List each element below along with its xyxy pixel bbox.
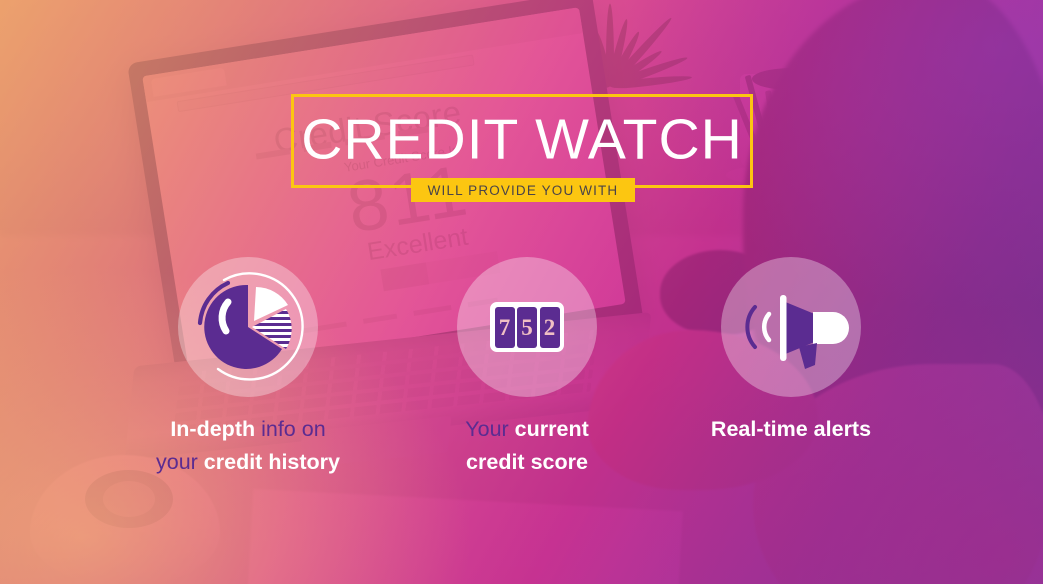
score-digit-1: 7 (495, 307, 515, 348)
feature-in-depth-info: In-depth info on your credit history (98, 257, 398, 478)
credit-score-digits-icon: 7 5 2 (457, 257, 597, 397)
feature-1-line1-light: info on (255, 417, 326, 441)
megaphone-icon (721, 257, 861, 397)
score-frame: 7 5 2 (490, 302, 564, 352)
features-row: In-depth info on your credit history 7 5… (0, 0, 1043, 584)
score-digit-3: 2 (540, 307, 560, 348)
feature-3-line1-bold: Real-time alerts (711, 417, 871, 441)
feature-1-line1-bold: In-depth (170, 417, 255, 441)
feature-1-icon-circle (178, 257, 318, 397)
feature-3-icon-circle (721, 257, 861, 397)
feature-1-caption: In-depth info on your credit history (98, 413, 398, 478)
feature-current-score: 7 5 2 Your current credit score (377, 257, 677, 478)
score-digit-2: 5 (517, 307, 537, 348)
feature-1-line2-bold: credit history (204, 450, 340, 474)
slide-canvas: Credit Score Your Credit Score Is 811 Ex… (0, 0, 1043, 584)
feature-2-line2-bold: credit score (466, 450, 588, 474)
pie-chart-icon (178, 257, 318, 397)
feature-2-line1-bold: current (515, 417, 589, 441)
feature-1-line2-light: your (156, 450, 204, 474)
feature-2-caption: Your current credit score (377, 413, 677, 478)
feature-real-time-alerts: Real-time alerts (641, 257, 941, 446)
feature-2-line1-light: Your (465, 417, 514, 441)
feature-2-icon-circle: 7 5 2 (457, 257, 597, 397)
feature-3-caption: Real-time alerts (641, 413, 941, 446)
